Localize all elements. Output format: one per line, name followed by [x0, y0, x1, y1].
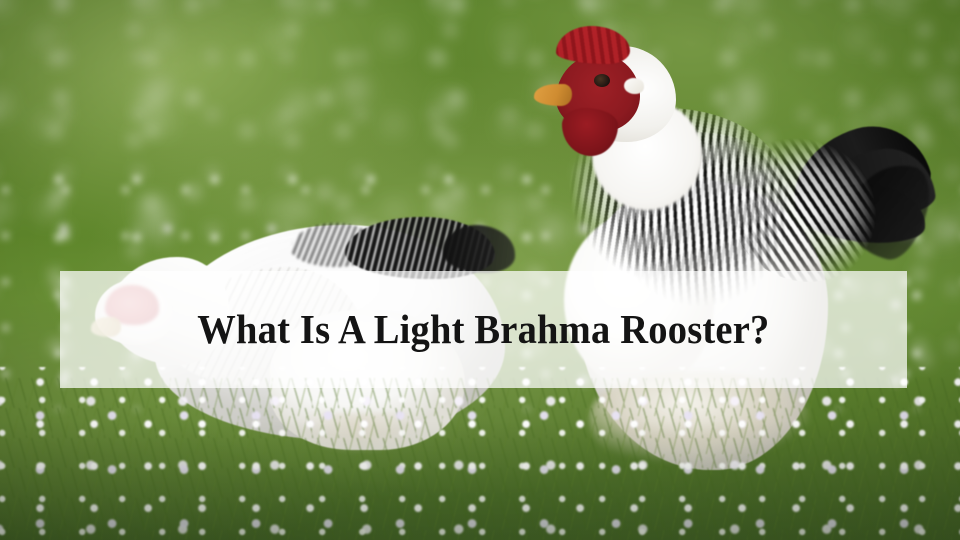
- rooster-eye: [594, 74, 610, 87]
- hen-tail-tip: [443, 225, 515, 273]
- rooster-beak: [534, 84, 572, 106]
- rooster-comb: [556, 26, 630, 64]
- ground-shadow: [0, 421, 960, 540]
- page-title: What Is A Light Brahma Rooster?: [197, 309, 769, 350]
- banner-image: What Is A Light Brahma Rooster?: [0, 0, 960, 540]
- rooster-earlobe: [624, 78, 644, 94]
- title-overlay-banner: What Is A Light Brahma Rooster?: [60, 271, 907, 388]
